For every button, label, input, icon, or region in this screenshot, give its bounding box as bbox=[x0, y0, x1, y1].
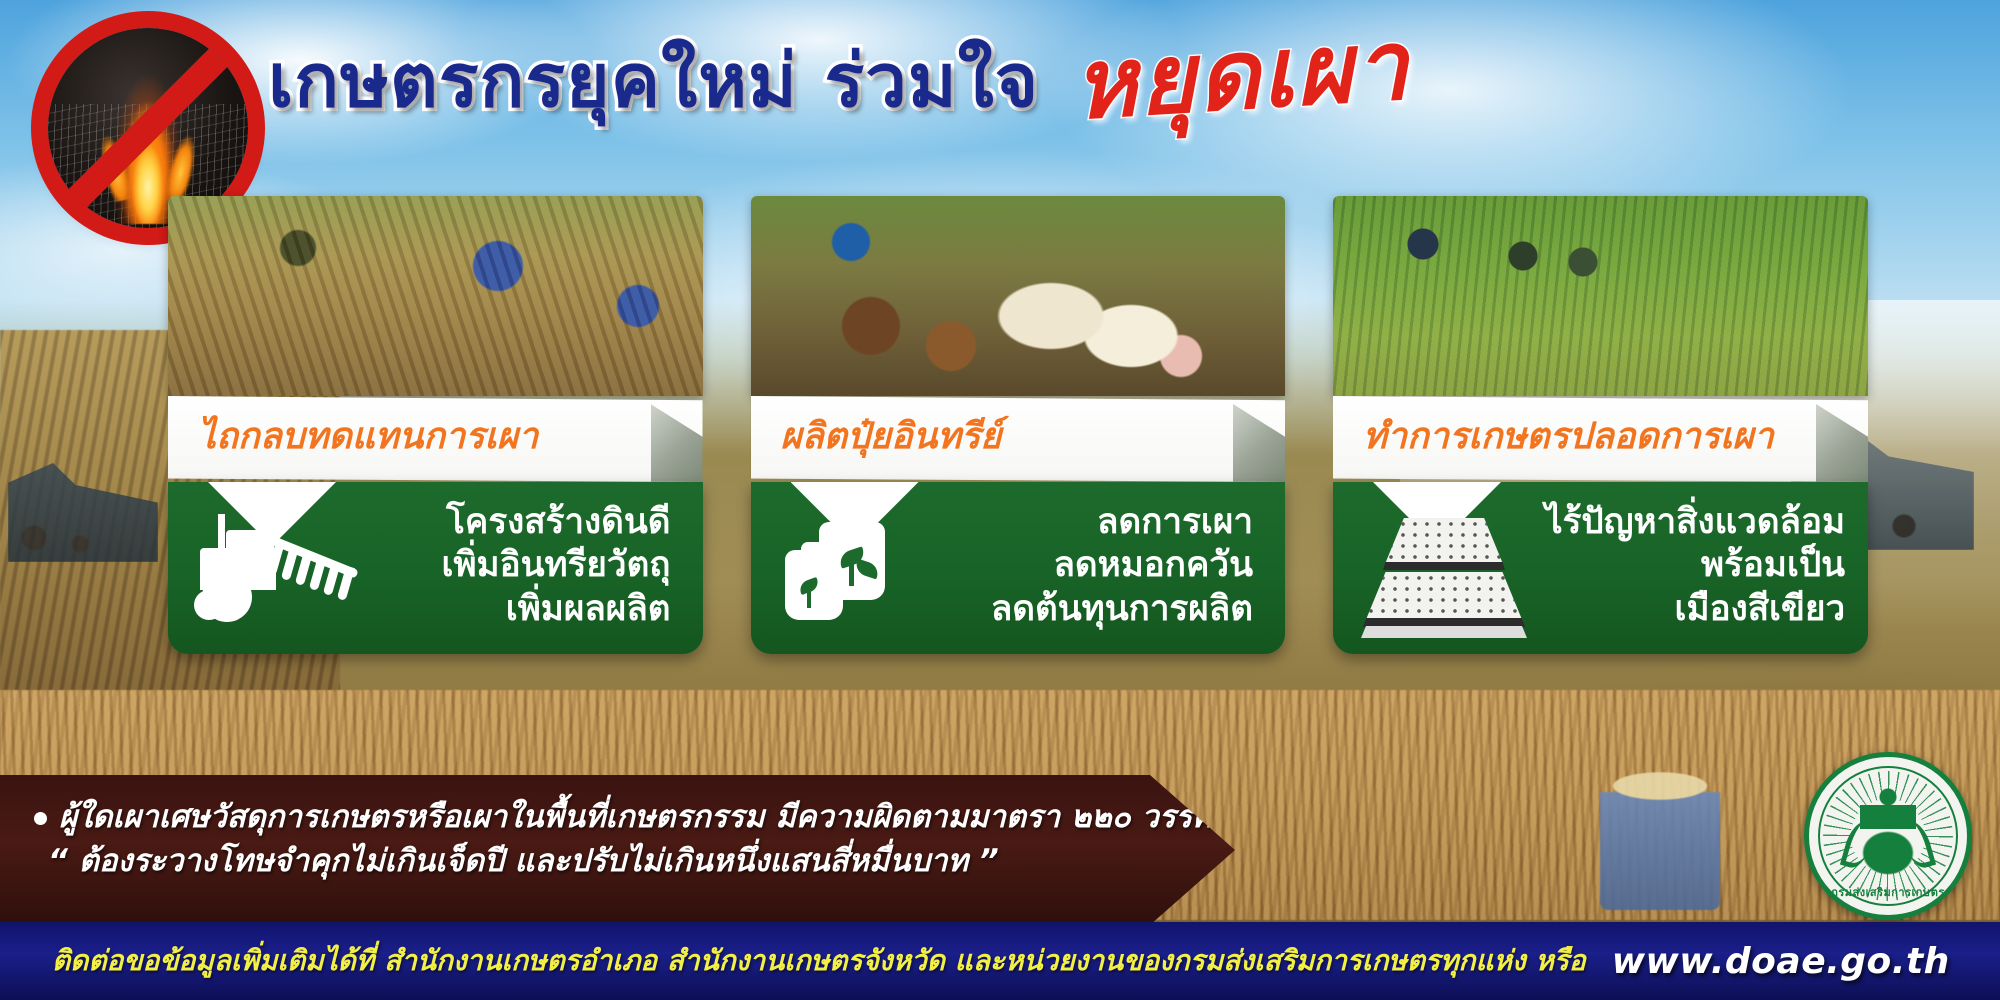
feature-card-organic-fertilizer: ผลิตปุ๋ยอินทรีย์ ลดการเผา ลดหมอกควัน ลดต… bbox=[751, 196, 1286, 654]
card-line: ลดการเผา bbox=[963, 501, 1254, 544]
tractor-plow-icon bbox=[194, 506, 364, 626]
legal-line-1: ผู้ใดเผาเศษวัสดุการเกษตรหรือเผาในพื้นที่… bbox=[59, 799, 1305, 835]
soil-layers-icon bbox=[1359, 506, 1529, 626]
card-line: พร้อมเป็น bbox=[1545, 544, 1845, 587]
card-photo-burn-free-farming bbox=[1333, 196, 1868, 396]
headline: เกษตรกรยุคใหม่ ร่วมใจ หยุดเผา bbox=[268, 44, 1410, 121]
legal-line-2: “ ต้องระวางโทษจำคุกไม่เกินเจ็ดปี และปรับ… bbox=[34, 839, 1235, 884]
card-line: เพิ่มผลผลิต bbox=[380, 588, 671, 631]
card-lines-burn-free-farming: ไร้ปัญหาสิ่งแวดล้อม พร้อมเป็น เมืองสีเขี… bbox=[1545, 501, 1851, 631]
card-lines-plowing: โครงสร้างดินดี เพิ่มอินทรียวัตถุ เพิ่มผล… bbox=[380, 501, 677, 631]
poster-root: เกษตรกรยุคใหม่ ร่วมใจ หยุดเผา ไถกลบทดแทน… bbox=[0, 0, 2000, 1000]
ribbon-fold-icon bbox=[1816, 404, 1868, 482]
headline-accent-text: หยุดเผา bbox=[1071, 20, 1413, 132]
card-header-text: ผลิตปุ๋ยอินทรีย์ bbox=[781, 417, 1002, 457]
ribbon-fold-icon bbox=[651, 404, 703, 482]
legal-notice-banner: ผู้ใดเผาเศษวัสดุการเกษตรหรือเผาในพื้นที่… bbox=[0, 775, 1235, 925]
card-line: ไร้ปัญหาสิ่งแวดล้อม bbox=[1545, 501, 1845, 544]
card-header-plowing: ไถกลบทดแทนการเผา bbox=[168, 396, 703, 482]
card-line: โครงสร้างดินดี bbox=[380, 501, 671, 544]
footer-contact-text: ติดต่อขอข้อมูลเพิ่มเติมได้ที่ สำนักงานเก… bbox=[52, 939, 1586, 983]
card-header-burn-free-farming: ทำการเกษตรปลอดการเผา bbox=[1333, 396, 1868, 482]
legal-line-1-wrapper: ผู้ใดเผาเศษวัสดุการเกษตรหรือเผาในพื้นที่… bbox=[34, 797, 1235, 839]
footer-website-url[interactable]: www.doae.go.th bbox=[1612, 941, 1950, 982]
card-body-plowing: โครงสร้างดินดี เพิ่มอินทรียวัตถุ เพิ่มผล… bbox=[168, 482, 703, 654]
department-of-agricultural-extension-seal: กรมส่งเสริมการเกษตร bbox=[1804, 752, 1972, 920]
headline-main-text: เกษตรกรยุคใหม่ ร่วมใจ bbox=[268, 44, 1039, 118]
bullet-icon bbox=[34, 812, 47, 825]
footer-contact-bar: ติดต่อขอข้อมูลเพิ่มเติมได้ที่ สำนักงานเก… bbox=[0, 922, 2000, 1000]
feature-card-burn-free-farming: ทำการเกษตรปลอดการเผา ไร้ปัญหาสิ่งแวดล้อม… bbox=[1333, 196, 1868, 654]
card-lines-organic-fertilizer: ลดการเผา ลดหมอกควัน ลดต้นทุนการผลิต bbox=[963, 501, 1260, 631]
seal-text: กรมส่งเสริมการเกษตร bbox=[1809, 883, 1967, 901]
card-body-organic-fertilizer: ลดการเผา ลดหมอกควัน ลดต้นทุนการผลิต bbox=[751, 482, 1286, 654]
card-line: เมืองสีเขียว bbox=[1545, 588, 1845, 631]
fertilizer-sacks-icon bbox=[777, 506, 947, 626]
feature-card-plowing: ไถกลบทดแทนการเผา bbox=[168, 196, 703, 654]
card-line: เพิ่มอินทรียวัตถุ bbox=[380, 544, 671, 587]
card-photo-organic-fertilizer bbox=[751, 196, 1286, 396]
card-header-text: ทำการเกษตรปลอดการเผา bbox=[1363, 417, 1774, 457]
card-line: ลดหมอกควัน bbox=[963, 544, 1254, 587]
ribbon-fold-icon bbox=[1233, 404, 1285, 482]
background-farmer-figure bbox=[1600, 760, 1720, 910]
card-header-organic-fertilizer: ผลิตปุ๋ยอินทรีย์ bbox=[751, 396, 1286, 482]
card-line: ลดต้นทุนการผลิต bbox=[963, 588, 1254, 631]
card-photo-plowing bbox=[168, 196, 703, 396]
seal-deity-figure-icon bbox=[1860, 783, 1916, 875]
feature-cards: ไถกลบทดแทนการเผา bbox=[168, 196, 1868, 654]
card-header-text: ไถกลบทดแทนการเผา bbox=[198, 417, 538, 457]
card-body-burn-free-farming: ไร้ปัญหาสิ่งแวดล้อม พร้อมเป็น เมืองสีเขี… bbox=[1333, 482, 1868, 654]
